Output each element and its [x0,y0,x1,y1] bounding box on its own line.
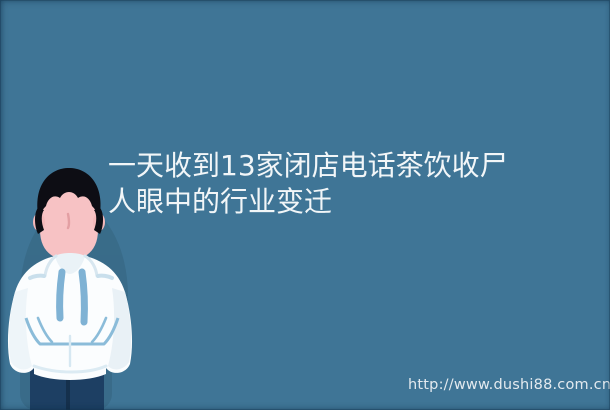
headline-line-2: 人眼中的行业变迁 [108,184,578,220]
drawstring-left [60,272,62,318]
headline-line-1: 一天收到13家闭店电话茶饮收尸 [108,148,578,184]
headline: 一天收到13家闭店电话茶饮收尸 人眼中的行业变迁 [108,148,578,220]
drawstring-right [82,272,84,322]
promo-banner: 一天收到13家闭店电话茶饮收尸 人眼中的行业变迁 http://www.dush… [0,0,610,410]
site-url-watermark: http://www.dushi88.com.cn [408,377,610,393]
nose-shape [68,214,69,228]
